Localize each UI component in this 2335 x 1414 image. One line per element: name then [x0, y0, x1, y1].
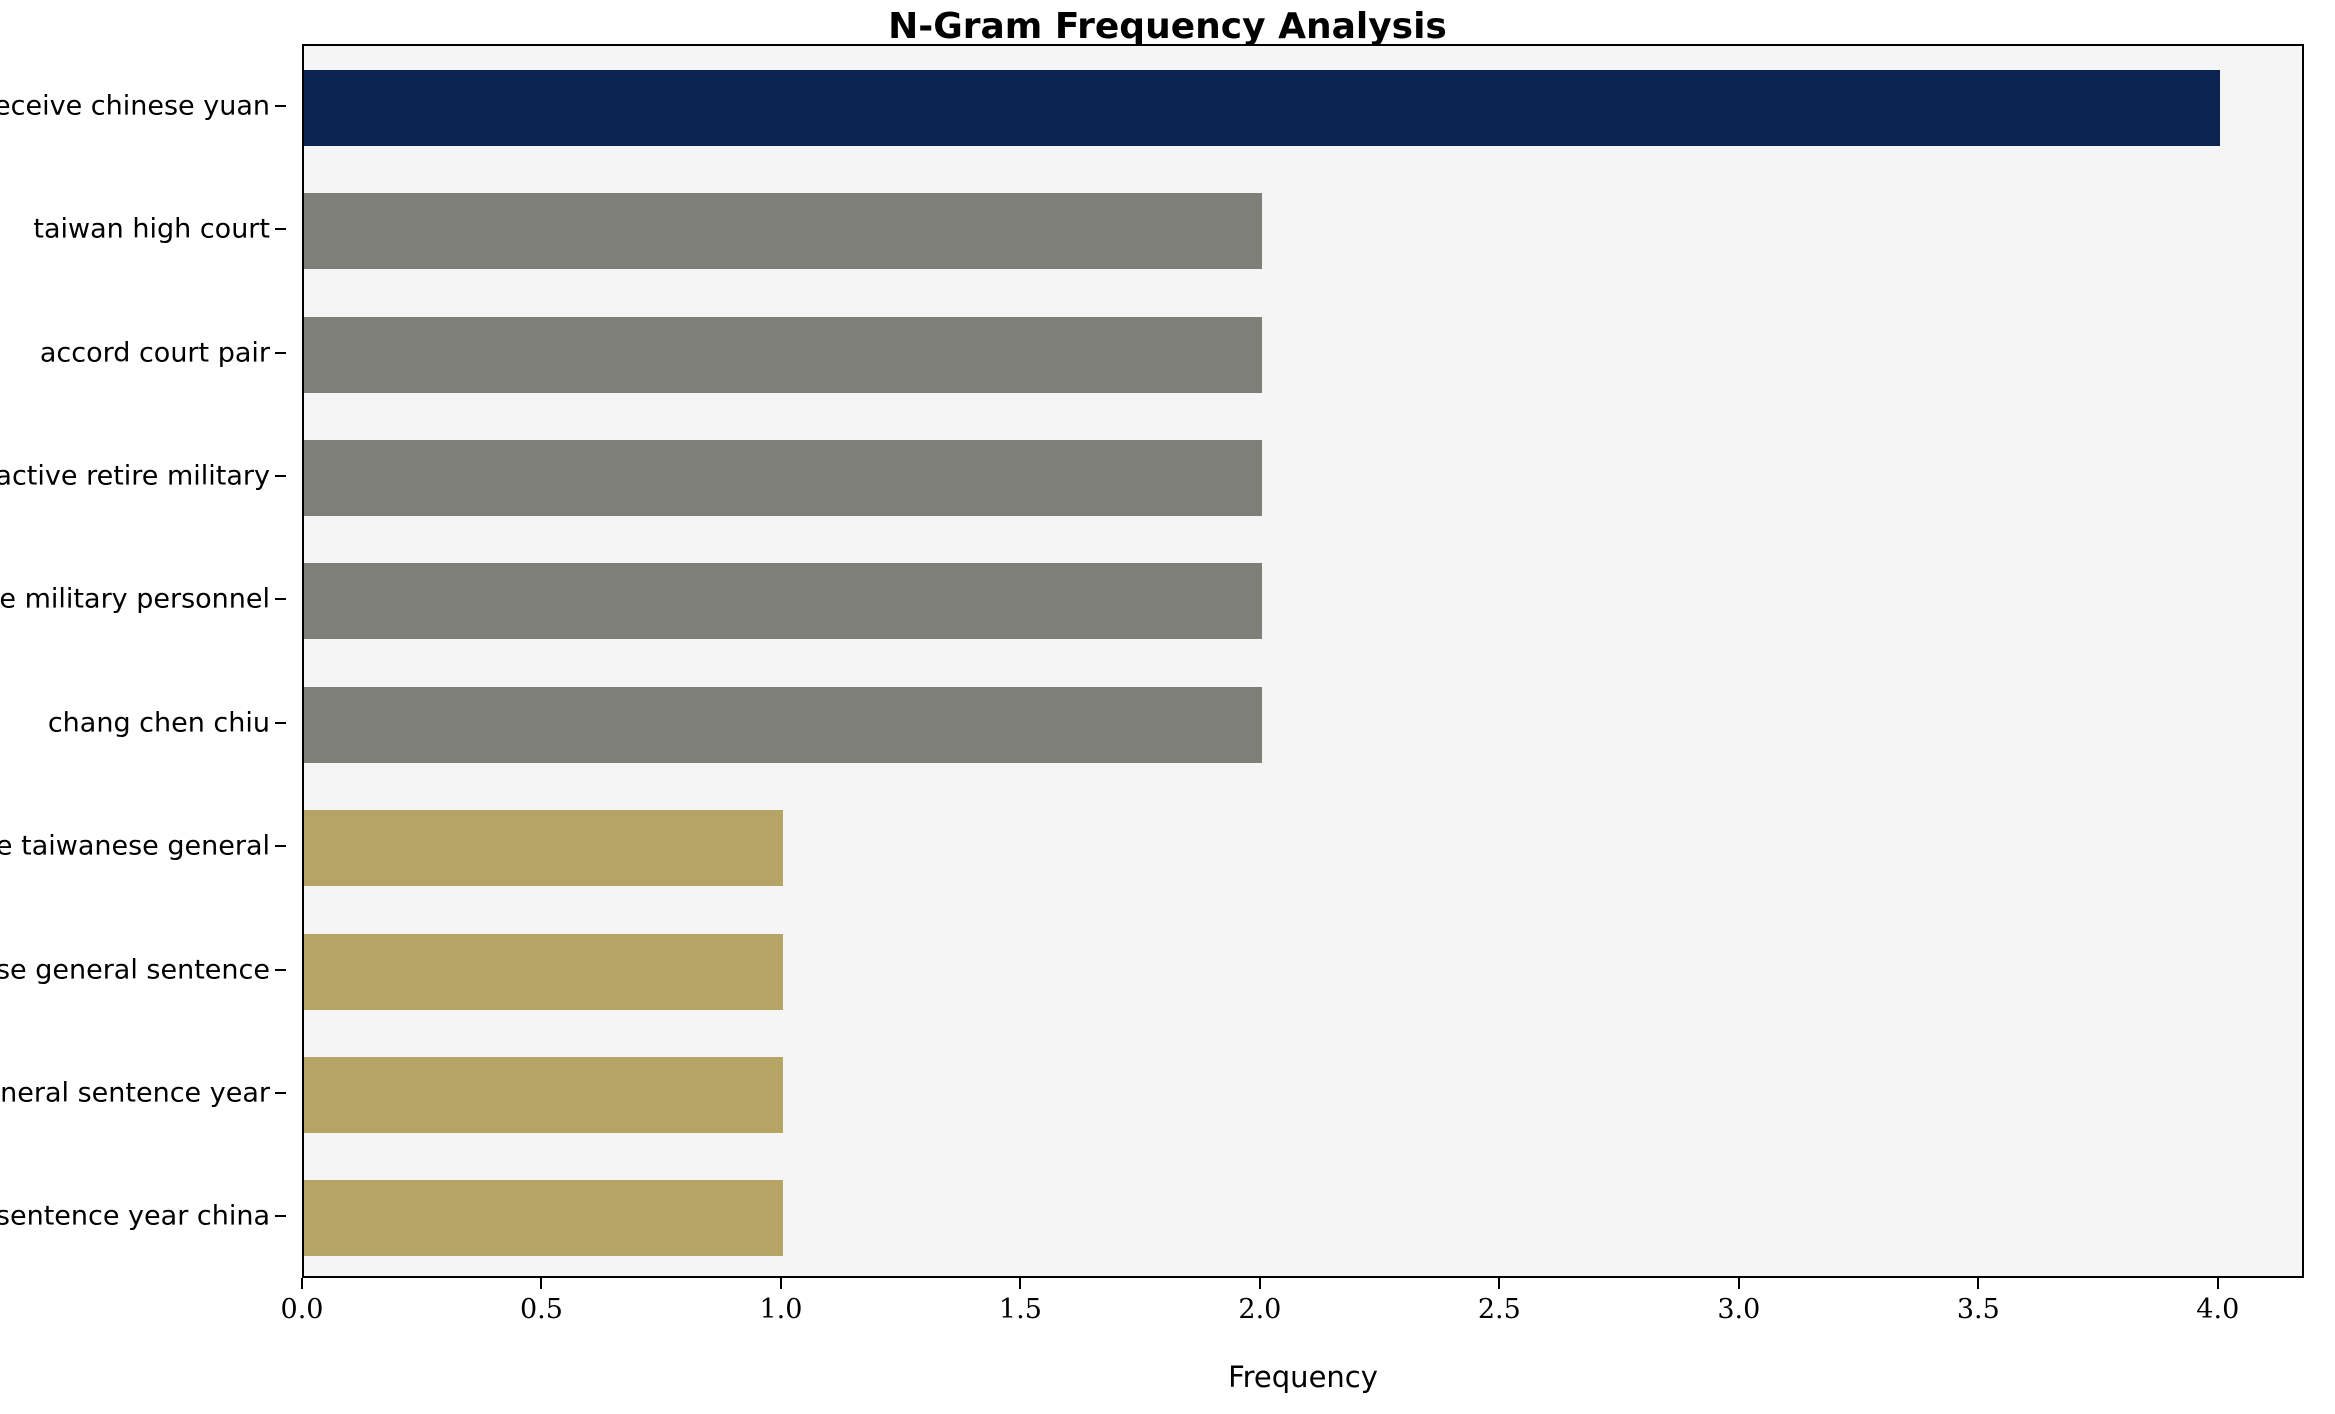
y-tick-label: retire taiwanese general	[0, 831, 270, 862]
x-tick-mark	[540, 1278, 542, 1289]
x-tick-mark	[2217, 1278, 2219, 1289]
x-tick-label: 0.5	[520, 1294, 563, 1325]
x-tick-label: 2.5	[1478, 1294, 1521, 1325]
y-tick-mark	[275, 105, 286, 107]
bar	[304, 70, 2220, 146]
x-axis: 0.00.51.01.52.02.53.03.54.0	[302, 1278, 2304, 1338]
x-tick-label: 2.0	[1238, 1294, 1281, 1325]
bar	[304, 1180, 783, 1256]
chart-figure: N-Gram Frequency Analysis receive chines…	[0, 0, 2335, 1414]
x-tick-mark	[301, 1278, 303, 1289]
y-tick-label: accord court pair	[40, 337, 270, 368]
chart-title: N-Gram Frequency Analysis	[0, 6, 2335, 47]
bar	[304, 440, 1262, 516]
x-tick-mark	[1498, 1278, 1500, 1289]
x-tick-mark	[1259, 1278, 1261, 1289]
y-tick-mark	[275, 845, 286, 847]
bars-layer	[304, 46, 2302, 1276]
x-tick-label: 0.0	[281, 1294, 324, 1325]
x-tick-mark	[780, 1278, 782, 1289]
x-tick-label: 1.5	[999, 1294, 1042, 1325]
y-tick-mark	[275, 1215, 286, 1217]
bar	[304, 934, 783, 1010]
y-tick-label: general sentence year	[0, 1077, 270, 1108]
y-tick-mark	[275, 722, 286, 724]
bar	[304, 193, 1262, 269]
y-tick-label: taiwanese general sentence	[0, 954, 270, 985]
y-tick-label: receive chinese yuan	[0, 90, 270, 121]
y-tick-mark	[275, 228, 286, 230]
y-tick-mark	[275, 598, 286, 600]
x-tick-label: 1.0	[759, 1294, 802, 1325]
bar	[304, 687, 1262, 763]
bar	[304, 810, 783, 886]
y-tick-label: retire military personnel	[0, 584, 270, 615]
bar	[304, 563, 1262, 639]
x-axis-title: Frequency	[302, 1360, 2304, 1394]
y-tick-mark	[275, 1092, 286, 1094]
y-tick-mark	[275, 969, 286, 971]
x-tick-mark	[1738, 1278, 1740, 1289]
bar	[304, 1057, 783, 1133]
y-tick-label: sentence year china	[0, 1201, 270, 1232]
y-tick-label: taiwan high court	[33, 214, 270, 245]
y-tick-mark	[275, 475, 286, 477]
y-tick-mark	[275, 352, 286, 354]
plot-area	[302, 44, 2304, 1278]
x-tick-mark	[1977, 1278, 1979, 1289]
x-tick-label: 3.5	[1957, 1294, 2000, 1325]
x-tick-label: 3.0	[1717, 1294, 1760, 1325]
y-axis: receive chinese yuantaiwan high courtacc…	[0, 44, 286, 1278]
y-tick-label: active retire military	[0, 460, 270, 491]
x-tick-mark	[1019, 1278, 1021, 1289]
x-tick-label: 4.0	[2196, 1294, 2239, 1325]
y-tick-label: chang chen chiu	[48, 707, 270, 738]
bar	[304, 317, 1262, 393]
